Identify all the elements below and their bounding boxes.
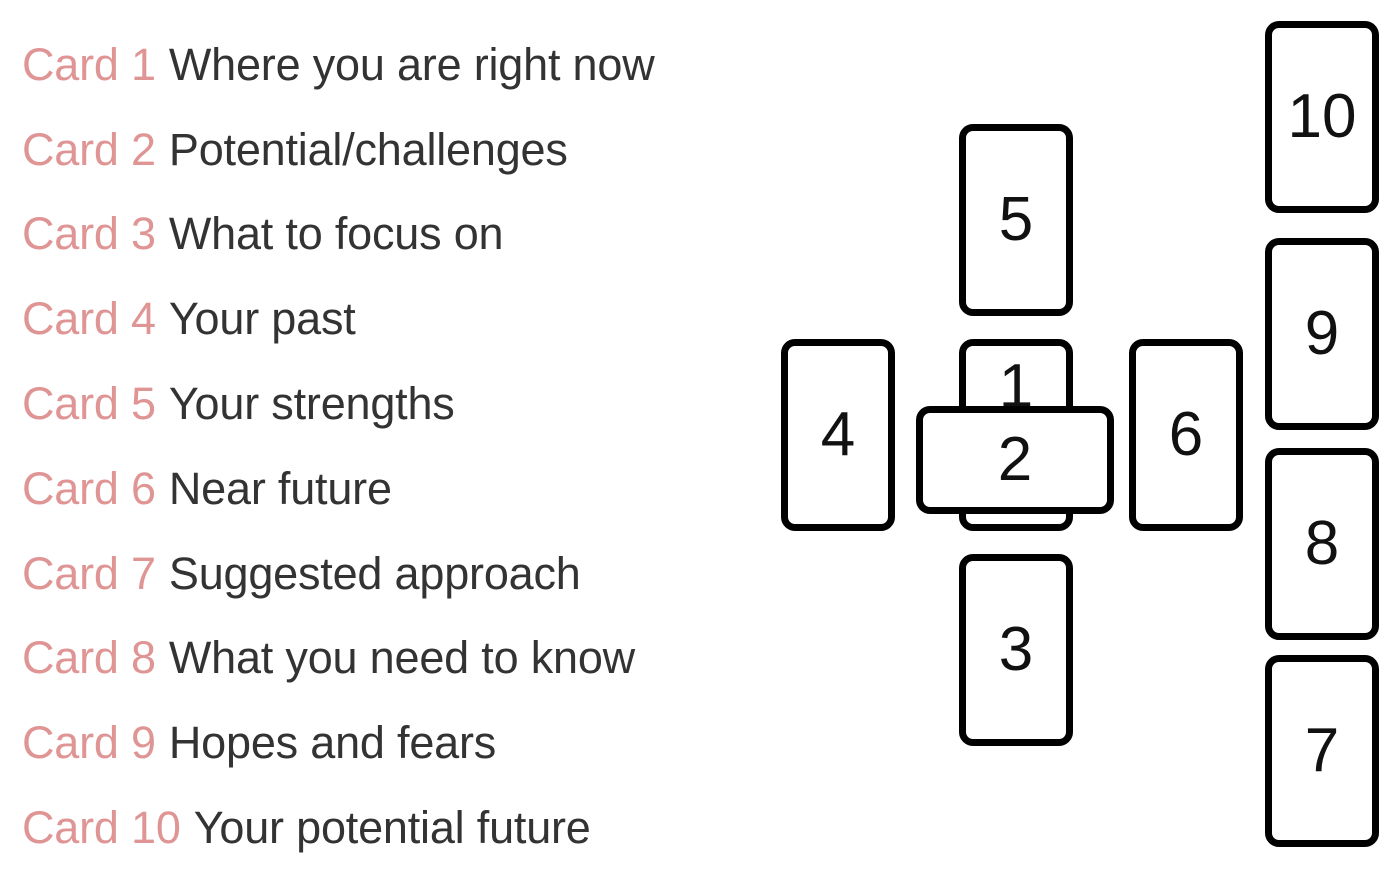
card-slot-8[interactable]: 8 [1265, 448, 1379, 640]
card-number: 3 [999, 619, 1033, 681]
card-number: 4 [821, 404, 855, 466]
card-slot-6[interactable]: 6 [1129, 339, 1243, 531]
card-slot-2[interactable]: 2 [916, 406, 1114, 514]
celtic-cross-diagram: 5 4 6 1 2 3 10 9 8 7 [0, 0, 1400, 870]
card-slot-4[interactable]: 4 [781, 339, 895, 531]
card-slot-10[interactable]: 10 [1265, 21, 1379, 213]
card-number: 8 [1305, 513, 1339, 575]
card-number: 7 [1305, 720, 1339, 782]
card-slot-7[interactable]: 7 [1265, 655, 1379, 847]
card-number: 6 [1169, 404, 1203, 466]
card-number: 9 [1305, 303, 1339, 365]
tarot-spread-page: Card 1 Where you are right now Card 2 Po… [0, 0, 1400, 870]
card-slot-5[interactable]: 5 [959, 124, 1073, 316]
card-slot-3[interactable]: 3 [959, 554, 1073, 746]
card-number: 2 [998, 429, 1032, 491]
card-number: 5 [999, 189, 1033, 251]
card-number: 10 [1288, 86, 1357, 148]
card-slot-9[interactable]: 9 [1265, 238, 1379, 430]
